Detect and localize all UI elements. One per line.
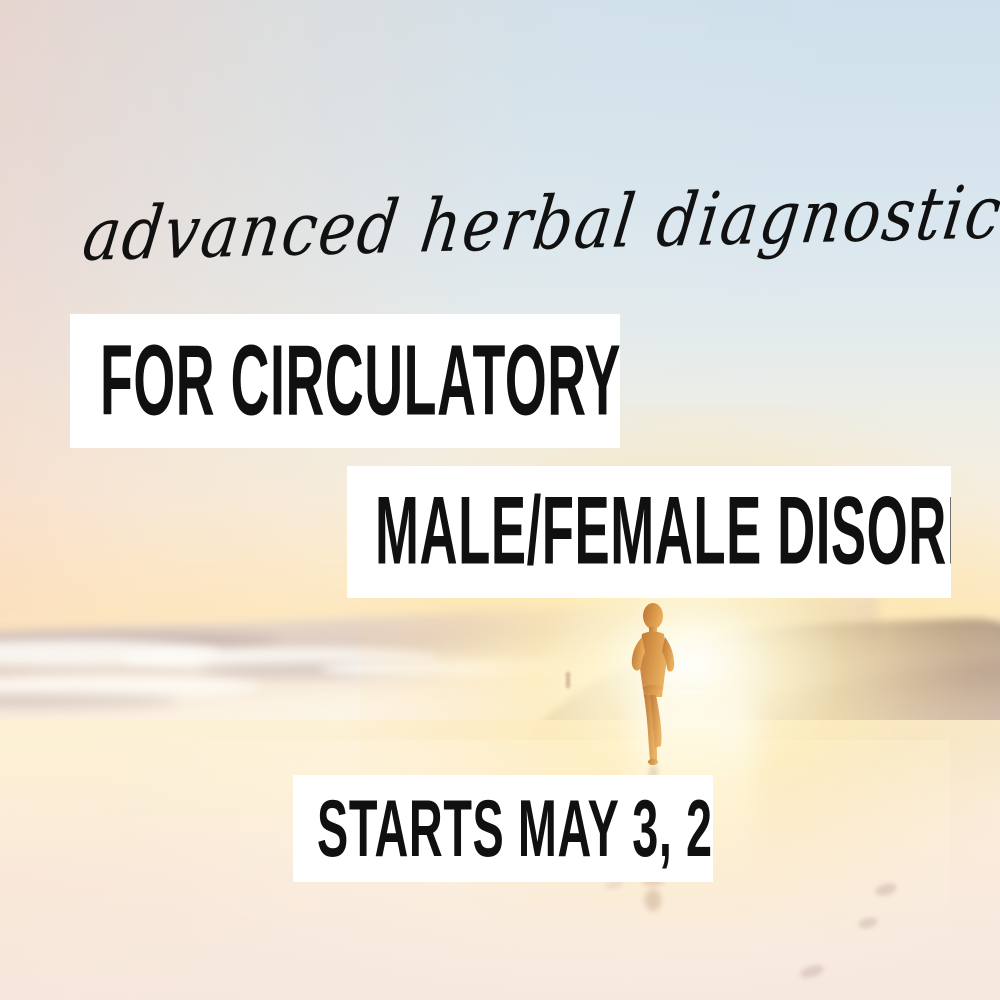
script-headline: advanced herbal diagnostics xyxy=(79,178,929,272)
date-band: STARTS MAY 3, 2021 xyxy=(293,775,713,882)
date-band-text: STARTS MAY 3, 2021 xyxy=(317,795,713,862)
poster-canvas: advanced herbal diagnostics FOR CIRCULAT… xyxy=(0,0,1000,1000)
headline-band-1: FOR CIRCULATORY AND xyxy=(70,314,620,448)
text-overlay: advanced herbal diagnostics FOR CIRCULAT… xyxy=(0,0,1000,1000)
headline-band-2: MALE/FEMALE DISORDERS xyxy=(347,466,951,598)
headline-band-2-text: MALE/FEMALE DISORDERS xyxy=(375,492,951,571)
headline-band-1-text: FOR CIRCULATORY AND xyxy=(100,340,620,422)
